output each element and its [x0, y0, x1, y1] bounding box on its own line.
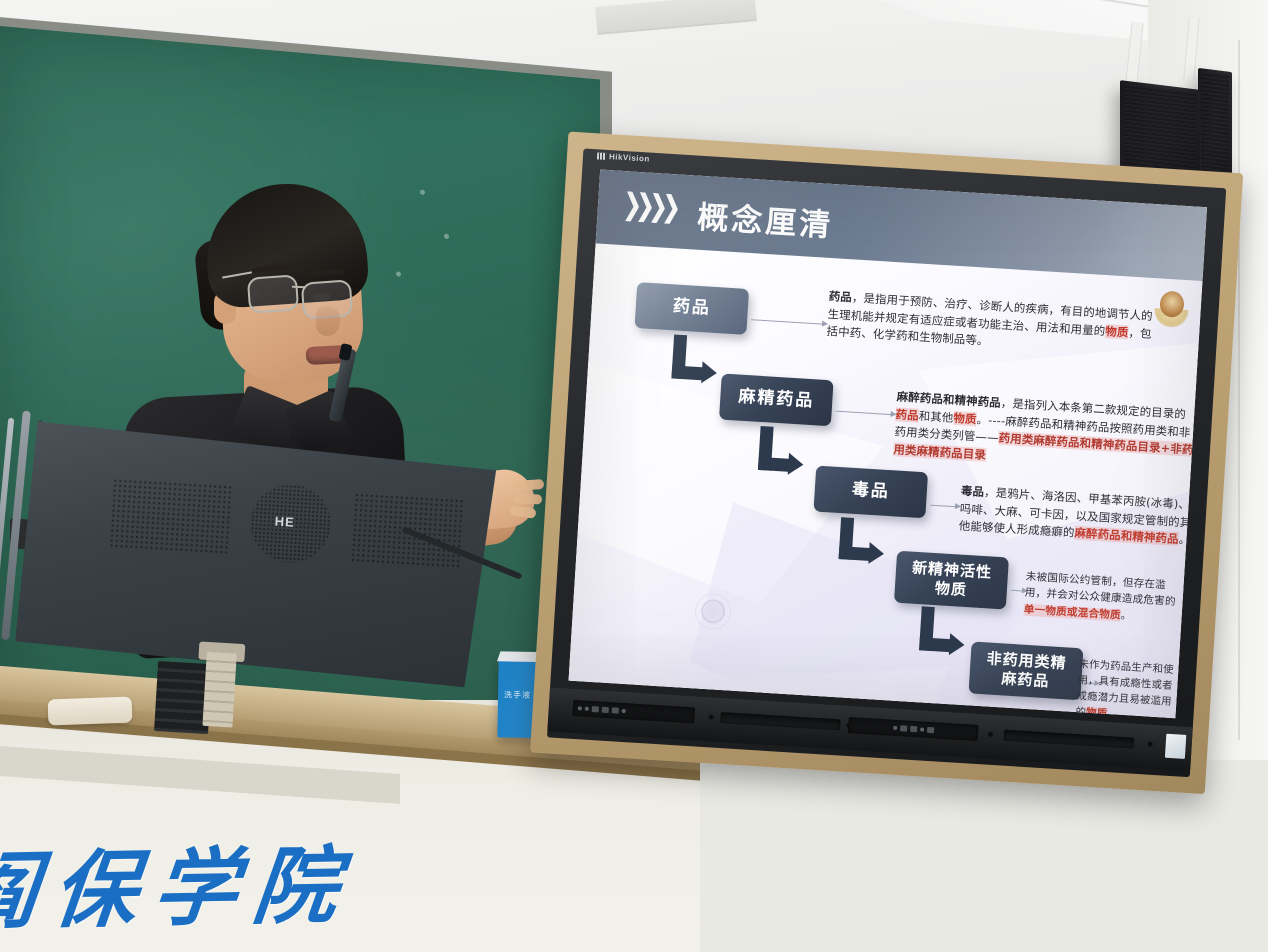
audio-jack-icon[interactable]: [920, 727, 924, 731]
emblem-watermark-icon: [694, 592, 732, 630]
definition-highlight: 单一物质或混合物质: [1023, 603, 1121, 621]
definition-body-mid: 和其他: [918, 408, 954, 424]
desk-monitor: HE: [0, 401, 518, 732]
port-icon[interactable]: [708, 714, 713, 719]
flow-box-narcotics: 毒品: [813, 466, 928, 519]
chevron-right-triple-icon: [625, 191, 679, 224]
definition-highlight: 物质: [1105, 324, 1129, 339]
usb-port-icon[interactable]: [893, 726, 897, 730]
port-icon[interactable]: [602, 707, 609, 713]
finger: [514, 494, 542, 505]
definition-nps: 未被国际公约管制，但存在滥用，并会对公众健康造成危害的单一物质或混合物质。: [1023, 569, 1184, 628]
wall-corner: [1238, 40, 1240, 740]
flow-box-drug: 药品: [634, 282, 749, 335]
box-label: 洗手液: [504, 689, 531, 700]
hdmi-port-icon[interactable]: [909, 726, 916, 732]
definition-highlight: 麻醉药品和精神药品: [1074, 526, 1179, 546]
flow-box-nps: 新精神活性物质: [894, 551, 1009, 610]
definition-body: 未被国际公约管制，但存在滥用，并会对公众健康造成危害的: [1024, 571, 1176, 609]
monitor-vent: [109, 478, 233, 555]
port-icon[interactable]: [592, 706, 599, 712]
institution-calligraphy: 阎保学院: [0, 819, 361, 947]
nose: [316, 306, 340, 336]
flow-box-non-medical: 非药用类精麻药品: [968, 641, 1083, 700]
hdmi-port-icon[interactable]: [900, 725, 907, 731]
display-control-cluster-center[interactable]: [848, 717, 979, 741]
blackboard-eraser: [48, 697, 133, 726]
glasses-lens-left: [247, 274, 299, 313]
speaker-grille-right: [1004, 730, 1134, 749]
definition-highlight-2: 物质: [953, 411, 977, 426]
display-screen[interactable]: 概念厘清 药品 麻精药品 毒品 新精神活性物质 非药用类精麻药品: [569, 170, 1208, 719]
finger: [514, 479, 545, 491]
energy-label-sticker: [1165, 734, 1186, 759]
flow-box-narcotic-psychotropic: 麻精药品: [719, 373, 834, 426]
presentation-slide: 概念厘清 药品 麻精药品 毒品 新精神活性物质 非药用类精麻药品: [569, 170, 1208, 719]
definition-non-medical: 未作为药品生产和使用，具有成瘾性或者成瘾潜力且易被滥用的物质。: [1075, 656, 1181, 718]
power-strip: [202, 652, 236, 728]
power-button-icon[interactable]: [578, 706, 582, 710]
interactive-flat-panel[interactable]: HikVision 概念厘清: [538, 140, 1234, 786]
usb-port-icon[interactable]: [926, 727, 933, 733]
police-badge-icon: [1153, 290, 1189, 330]
slide-title: 概念厘清: [696, 192, 835, 245]
display-control-cluster-left[interactable]: [572, 700, 695, 724]
glasses-bridge: [292, 286, 306, 288]
brand-mark-icon: [597, 152, 606, 160]
port-icon[interactable]: [1148, 742, 1153, 747]
speaker-grille-left: [720, 712, 840, 730]
indicator-led-icon: [622, 709, 626, 713]
port-icon[interactable]: [612, 707, 619, 713]
monitor-brand-logo: HE: [274, 514, 295, 530]
definition-term: 药品: [828, 289, 852, 304]
definition-term: 毒品: [961, 484, 985, 499]
definition-body-tail: 。: [1120, 609, 1132, 622]
sensor-icon: [585, 707, 589, 711]
monitor-back-panel: HE: [14, 421, 497, 688]
classroom-photo: 阎保学院: [0, 0, 1268, 952]
definition-highlight: 药品: [895, 407, 919, 422]
port-icon[interactable]: [988, 732, 993, 737]
